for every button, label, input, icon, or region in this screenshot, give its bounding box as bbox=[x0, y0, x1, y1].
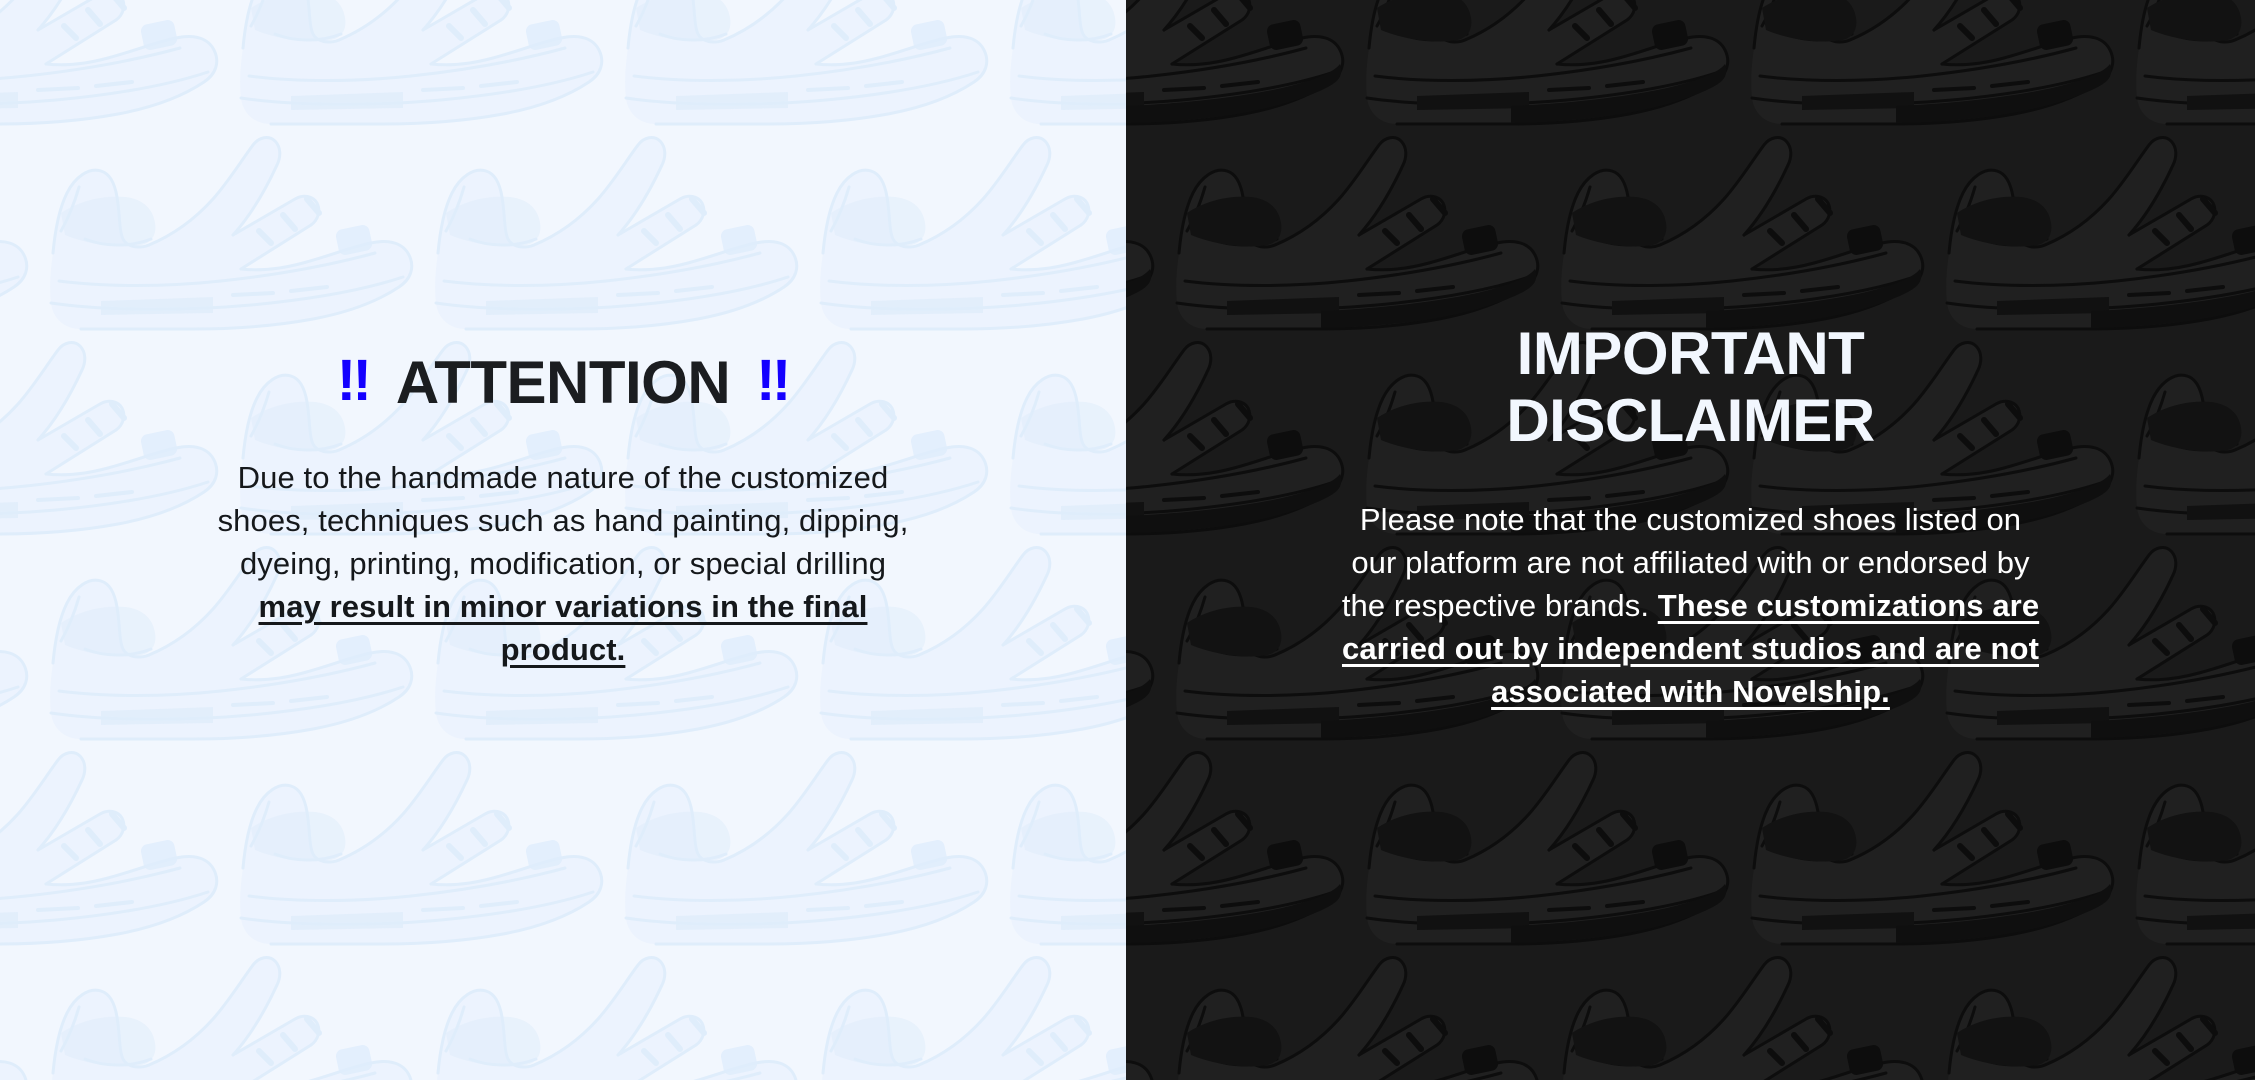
disclaimer-content: IMPORTANT DISCLAIMER Please note that th… bbox=[1126, 0, 2255, 1080]
disclaimer-heading-line2: DISCLAIMER bbox=[1506, 387, 1874, 454]
attention-body: Due to the handmade nature of the custom… bbox=[213, 456, 913, 671]
attention-heading-text: ATTENTION bbox=[396, 352, 730, 413]
attention-panel: ‼ ATTENTION ‼ Due to the handmade nature… bbox=[0, 0, 1126, 1080]
double-exclamation-right-icon: ‼ bbox=[756, 352, 789, 410]
disclaimer-heading-line1: IMPORTANT bbox=[1506, 320, 1874, 387]
disclaimer-panel: IMPORTANT DISCLAIMER Please note that th… bbox=[1126, 0, 2255, 1080]
double-exclamation-left-icon: ‼ bbox=[337, 352, 370, 410]
attention-content: ‼ ATTENTION ‼ Due to the handmade nature… bbox=[0, 0, 1126, 1080]
disclaimer-body: Please note that the customized shoes li… bbox=[1335, 498, 2047, 713]
attention-body-emphasis: may result in minor variations in the fi… bbox=[259, 589, 868, 667]
attention-body-normal: Due to the handmade nature of the custom… bbox=[218, 460, 909, 581]
disclaimer-heading: IMPORTANT DISCLAIMER bbox=[1506, 320, 1874, 454]
split-banner: ‼ ATTENTION ‼ Due to the handmade nature… bbox=[0, 0, 2255, 1080]
attention-heading: ‼ ATTENTION ‼ bbox=[337, 352, 789, 413]
